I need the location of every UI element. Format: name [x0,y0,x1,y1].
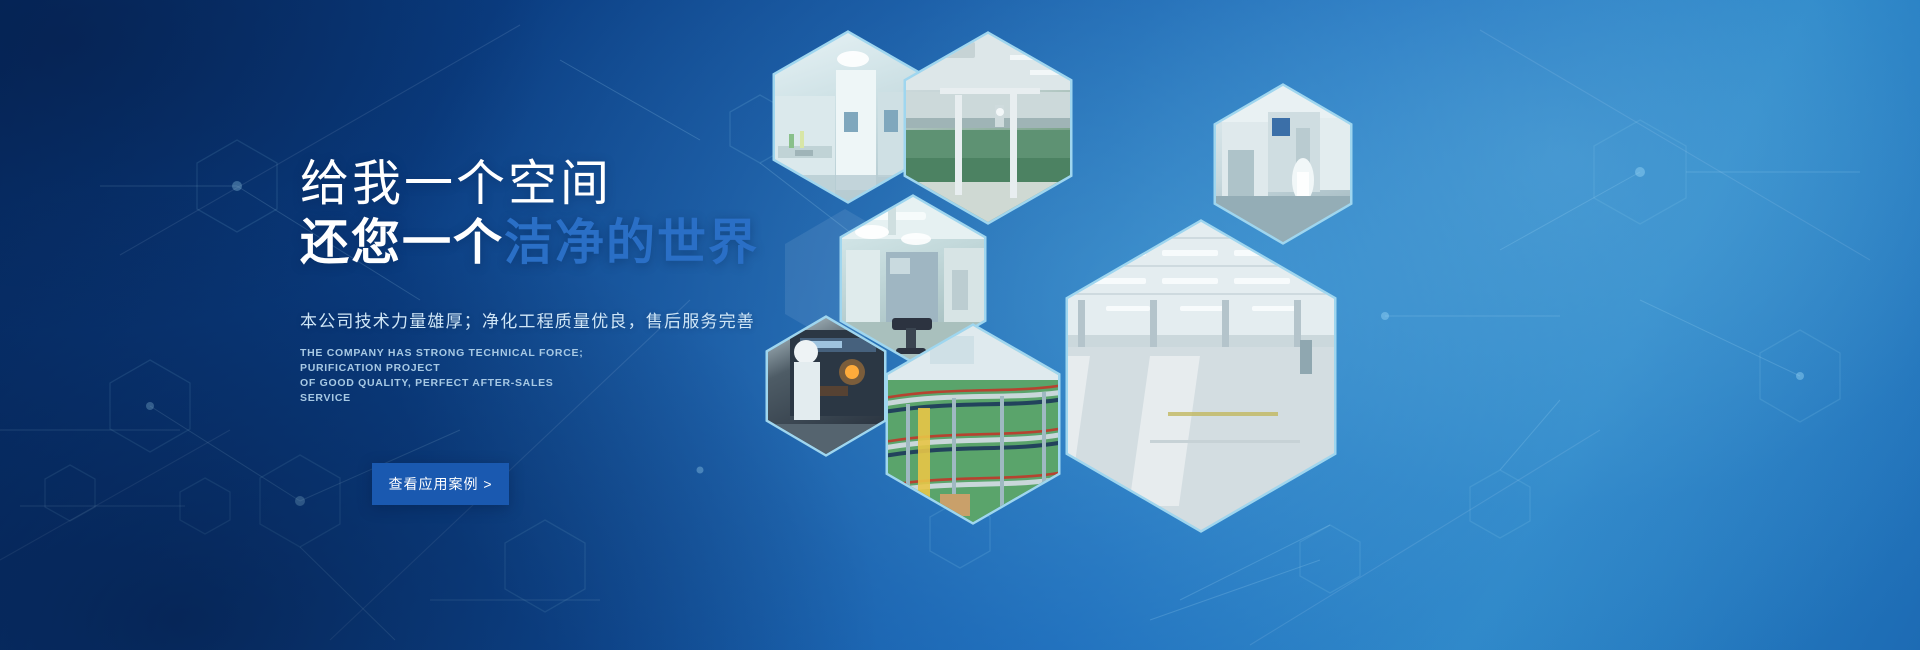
headline-block: 给我一个空间 还您一个洁净的世界 本公司技术力量雄厚；净化工程质量优良，售后服务… [300,158,940,407]
headline-line-2-accent: 洁净的世界 [504,216,759,270]
hex-tile-smt-production-room[interactable] [1210,82,1360,252]
hexagon-photo-cluster [0,0,1920,650]
subtitle-chinese: 本公司技术力量雄厚；净化工程质量优良，售后服务完善 [300,307,940,332]
subtitle-english-line-2: OF GOOD QUALITY, PERFECT AFTER-SALES SER… [300,376,600,406]
headline-line-2-white: 还您一个 [300,216,504,270]
view-case-studies-button[interactable]: 查看应用案例 > [372,463,509,505]
subtitle-english: THE COMPANY HAS STRONG TECHNICAL FORCE; … [300,346,600,407]
banner-slide: 给我一个空间 还您一个洁净的世界 本公司技术力量雄厚；净化工程质量优良，售后服务… [0,0,1920,650]
subtitle-english-line-1: THE COMPANY HAS STRONG TECHNICAL FORCE; … [300,346,600,376]
headline-line-2: 还您一个洁净的世界 [300,216,940,271]
headline-line-1: 给我一个空间 [300,158,940,212]
